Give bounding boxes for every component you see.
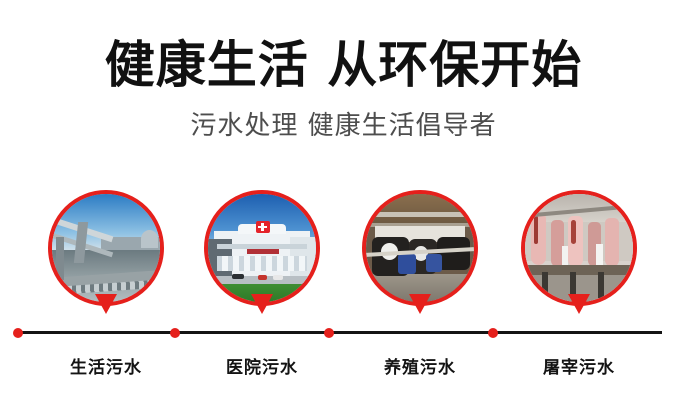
category-label-2: 医院污水: [182, 356, 342, 380]
promo-banner: 健康生活 从环保开始 污水处理 健康生活倡导者: [0, 0, 687, 404]
pin-photo-3: [366, 194, 474, 302]
cattle-barn-photo: [362, 190, 478, 306]
timeline-dot-3[interactable]: [324, 328, 334, 338]
carcass-marking-1: [534, 216, 538, 244]
category-pin-2[interactable]: [204, 190, 320, 306]
pin-pointer-icon: [251, 294, 273, 314]
category-label-row: 生活污水 医院污水 养殖污水 屠宰污水: [0, 356, 687, 386]
category-label-3: 养殖污水: [340, 356, 500, 380]
pin-pointer-icon: [409, 294, 431, 314]
feed-bin-1: [398, 254, 415, 273]
dome-tank-shape: [141, 230, 158, 248]
pin-photo-1: [52, 194, 160, 302]
red-cross-horizontal-bar: [258, 226, 267, 229]
pin-pointer-icon: [568, 294, 590, 314]
category-pin-row: [0, 190, 687, 320]
hospital-building-photo: [204, 190, 320, 306]
sewage-treatment-plant-photo: [48, 190, 164, 306]
conveyor-leg-1: [542, 272, 547, 298]
car-shape-1: [232, 274, 244, 279]
feed-bin-2: [426, 254, 441, 271]
car-shape-3: [273, 275, 283, 280]
barn-roof-layer: [366, 194, 474, 226]
page-subtitle: 污水处理 健康生活倡导者: [0, 110, 687, 142]
conveyor-leg-3: [598, 272, 603, 298]
slaughterhouse-photo: [521, 190, 637, 306]
bridge-pier-2-shape: [56, 237, 64, 280]
pin-photo-4: [525, 194, 633, 302]
conveyor-belt-shape: [525, 265, 633, 275]
category-label-1: 生活污水: [26, 356, 186, 380]
category-pin-1[interactable]: [48, 190, 164, 306]
cow-shape-3: [437, 237, 469, 269]
timeline-dot-4[interactable]: [488, 328, 498, 338]
hanging-carcass-5: [605, 218, 619, 268]
category-pin-4[interactable]: [521, 190, 637, 306]
pin-pointer-icon: [95, 294, 117, 314]
car-shape-2: [258, 275, 268, 280]
page-title: 健康生活 从环保开始: [0, 36, 687, 94]
timeline-dot-2[interactable]: [170, 328, 180, 338]
category-label-4: 屠宰污水: [499, 356, 659, 380]
carcass-marking-2: [571, 220, 575, 244]
timeline-axis: [18, 331, 662, 334]
roof-beam-1: [366, 212, 474, 216]
window-grid: [217, 256, 308, 271]
timeline-dot-1[interactable]: [13, 328, 23, 338]
hospital-signboard: [247, 249, 279, 254]
pin-photo-2: [208, 194, 316, 302]
category-pin-3[interactable]: [362, 190, 478, 306]
